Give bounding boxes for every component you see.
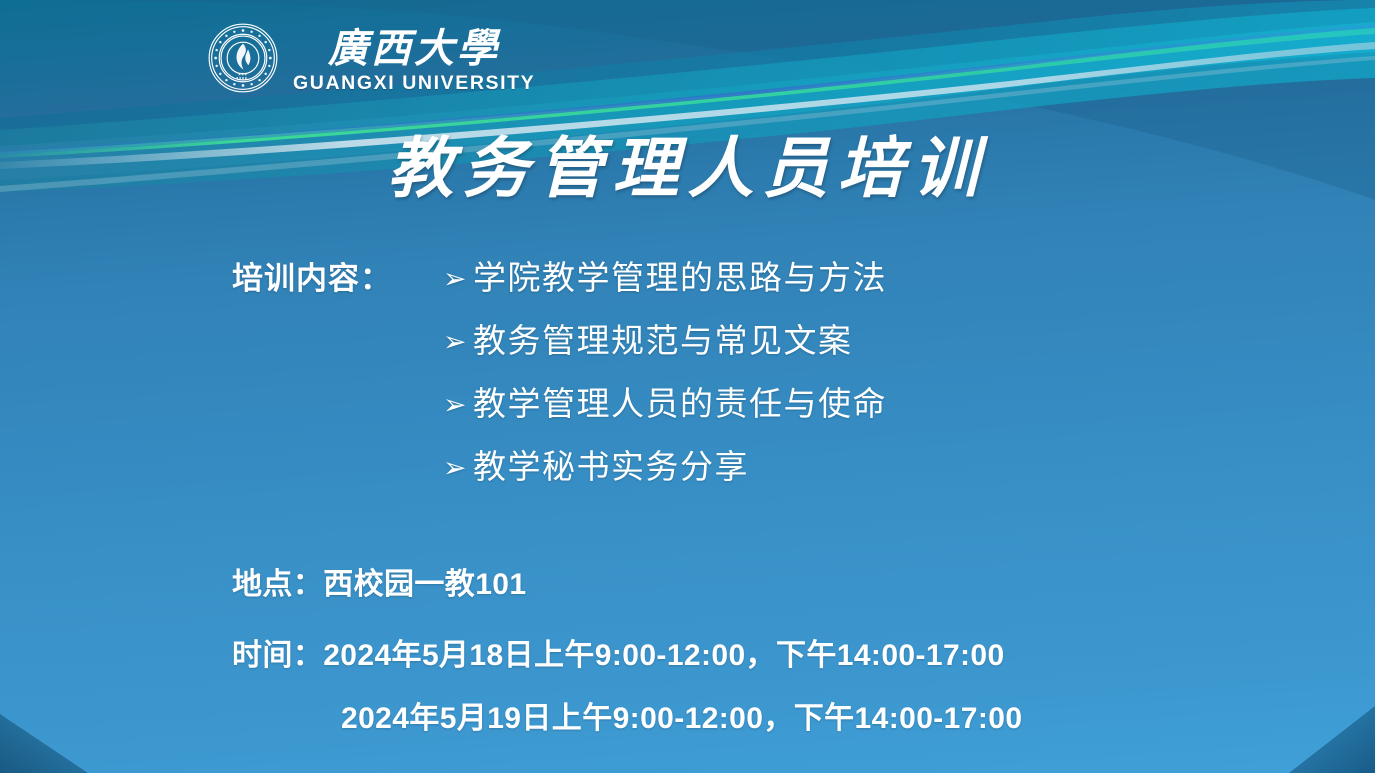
list-item: ➢ 教务管理规范与常见文案 [443, 325, 887, 388]
training-content-list: ➢ 学院教学管理的思路与方法 ➢ 教务管理规范与常见文案 ➢ 教学管理人员的责任… [443, 262, 887, 514]
time-line-first-day: 时间：2024年5月18日上午9:00-12:00，下午14:00-17:00 [232, 641, 1005, 671]
university-logo: 廣西大學 GUANGXI UNIVERSITY [207, 22, 535, 94]
list-item-label: 教学秘书实务分享 [473, 451, 749, 486]
slide-title: 教务管理人员培训 [0, 132, 1375, 208]
svg-text:廣西大學: 廣西大學 [327, 26, 501, 71]
arrow-bullet-icon: ➢ [443, 329, 473, 357]
logo-wordmark: 廣西大學 GUANGXI UNIVERSITY [293, 24, 535, 94]
list-item: ➢ 教学管理人员的责任与使命 [443, 388, 887, 451]
arrow-bullet-icon: ➢ [443, 392, 473, 420]
list-item-label: 教务管理规范与常见文案 [473, 325, 853, 360]
corner-triangle-bottom-right [1289, 706, 1375, 773]
time-line-second-day: 2024年5月19日上午9:00-12:00，下午14:00-17:00 [341, 704, 1022, 734]
arrow-bullet-icon: ➢ [443, 455, 473, 483]
list-item: ➢ 学院教学管理的思路与方法 [443, 262, 887, 325]
guangxi-university-seal-icon [207, 22, 279, 94]
arrow-bullet-icon: ➢ [443, 266, 473, 294]
list-item-label: 学院教学管理的思路与方法 [473, 262, 887, 297]
list-item-label: 教学管理人员的责任与使命 [473, 388, 887, 423]
logo-chinese-name: 廣西大學 [311, 24, 517, 72]
presentation-slide: 廣西大學 GUANGXI UNIVERSITY 教务管理人员培训 培训内容： ➢… [0, 0, 1375, 773]
corner-triangle-bottom-left [0, 714, 88, 773]
place-line: 地点：西校园一教101 [232, 570, 526, 600]
list-item: ➢ 教学秘书实务分享 [443, 451, 887, 514]
logo-english-name: GUANGXI UNIVERSITY [293, 74, 535, 94]
training-content-label: 培训内容： [232, 263, 392, 294]
